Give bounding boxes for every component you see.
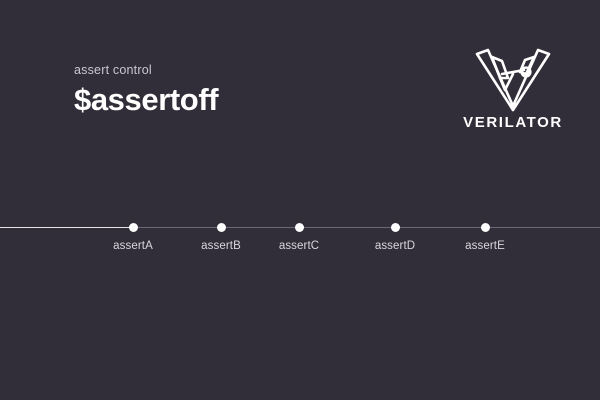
verilator-logo: VERILATOR — [458, 44, 568, 140]
timeline-label-asserta: assertA — [113, 240, 153, 252]
page-title: $assertoff — [74, 82, 434, 118]
slide-canvas: assert control $assertoff VERILATOR asse… — [0, 0, 600, 400]
timeline-label-asserte: assertE — [465, 240, 505, 252]
timeline-node-assertb[interactable] — [217, 223, 226, 232]
verilator-v-caliper-icon — [472, 44, 554, 112]
timeline-node-asserte[interactable] — [481, 223, 490, 232]
eyebrow-label: assert control — [74, 63, 434, 78]
header-text-block: assert control $assertoff — [74, 63, 434, 118]
timeline-node-assertc[interactable] — [295, 223, 304, 232]
timeline-label-assertd: assertD — [375, 240, 415, 252]
timeline-label-assertb: assertB — [201, 240, 241, 252]
assert-timeline: assertAassertBassertCassertDassertE — [0, 223, 600, 232]
timeline-node-asserta[interactable] — [129, 223, 138, 232]
timeline-label-assertc: assertC — [279, 240, 319, 252]
verilator-wordmark: VERILATOR — [463, 115, 563, 130]
timeline-node-assertd[interactable] — [391, 223, 400, 232]
timeline-track-progress — [0, 227, 133, 229]
